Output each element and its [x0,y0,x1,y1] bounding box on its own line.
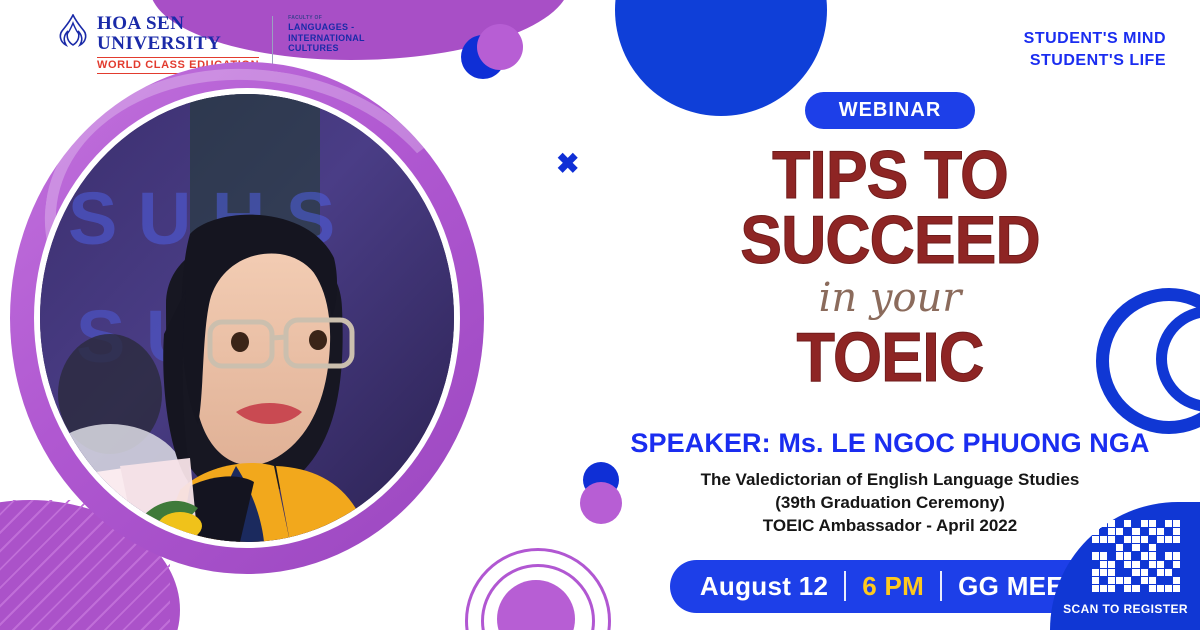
title-line-2: TOEIC [647,322,1133,392]
tagline-line-2: STUDENT'S LIFE [1024,50,1166,72]
faculty-line-1: LANGUAGES - [288,22,365,33]
faculty-block: FACULTY OF LANGUAGES - INTERNATIONAL CUL… [288,14,365,54]
qr-code-grid[interactable] [1092,520,1180,592]
speaker-credentials: The Valedictorian of English Language St… [620,468,1160,538]
title-line-1: TIPS TO SUCCEED [642,143,1139,274]
separator-1 [844,571,846,601]
speaker-name: SPEAKER: Ms. LE NGOC PHUONG NGA [620,428,1160,459]
x-mark-icon: ✖ [556,150,579,178]
speaker-desc-1: The Valedictorian of English Language St… [620,468,1160,491]
qr-label: SCAN TO REGISTER [1063,602,1188,616]
blue-dot-middle [583,462,619,498]
poster-content: WEBINAR TIPS TO SUCCEED in your TOEIC SP… [620,92,1160,613]
lotus-flame-icon [58,14,88,48]
faculty-line-3: CULTURES [288,43,365,54]
speaker-desc-3: TOEIC Ambassador - April 2022 [620,514,1160,537]
logo-line-2: UNIVERSITY [97,34,259,53]
webinar-poster: ✖ HOA SEN UNIVERSITY WORLD CLASS EDUCATI… [0,0,1200,630]
speaker-portrait-illustration: S U H S S U H [40,94,454,542]
event-time: 6 PM [862,571,924,602]
blue-ring-inner-right [1156,306,1200,412]
speaker-desc-2: (39th Graduation Ceremony) [620,491,1160,514]
purple-circle-bottom [497,580,575,630]
brand-tagline: STUDENT'S MIND STUDENT'S LIFE [1024,28,1166,71]
speaker-photo: S U H S S U H [40,94,454,542]
separator-2 [940,571,942,601]
event-platform: GG MEET [958,571,1080,602]
faculty-line-2: INTERNATIONAL [288,33,365,44]
event-details-bar: August 12 6 PM GG MEET [670,560,1110,613]
webinar-badge: WEBINAR [805,92,976,129]
tagline-line-1: STUDENT'S MIND [1024,28,1166,50]
title-script: in your [620,276,1160,320]
logo-line-1: HOA SEN [97,14,259,33]
speaker-photo-frame: S U H S S U H [10,62,500,592]
purple-dot-middle [580,482,622,524]
qr-code-icon[interactable] [1092,520,1180,592]
event-date: August 12 [700,571,828,602]
